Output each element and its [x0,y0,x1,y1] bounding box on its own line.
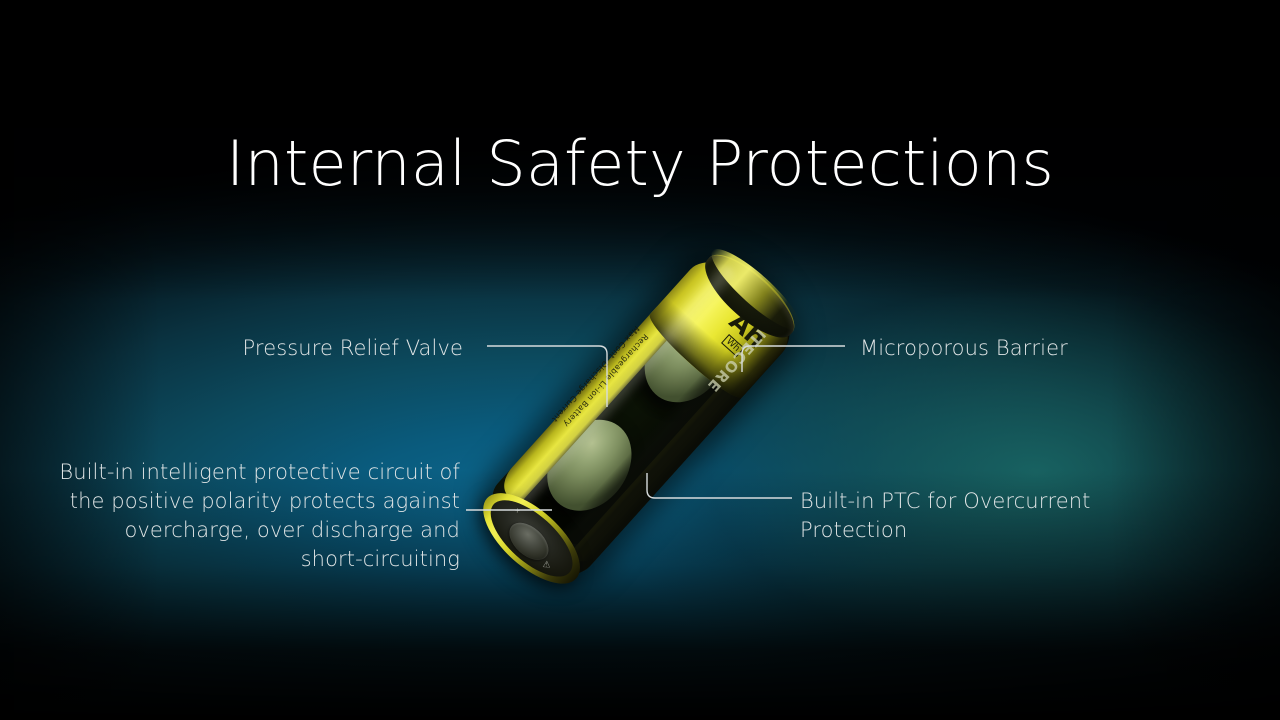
callout-label-microporous-barrier: Microporous Barrier [860,334,1260,363]
callout-label-protective-circuit: Built-in intelligent protective circuit … [10,458,460,574]
battery-polarity-mark: + [514,507,520,515]
slide-canvas: Internal Safety Protections Ah Wh Max Co… [0,0,1280,720]
callout-label-ptc-overcurrent: Built-in PTC for Overcurrent Protection [800,487,1200,545]
callout-label-pressure-relief-valve: Pressure Relief Valve [0,334,463,363]
page-title: Internal Safety Protections [0,131,1280,196]
battery-warning-mark: ⚠ [542,560,551,571]
